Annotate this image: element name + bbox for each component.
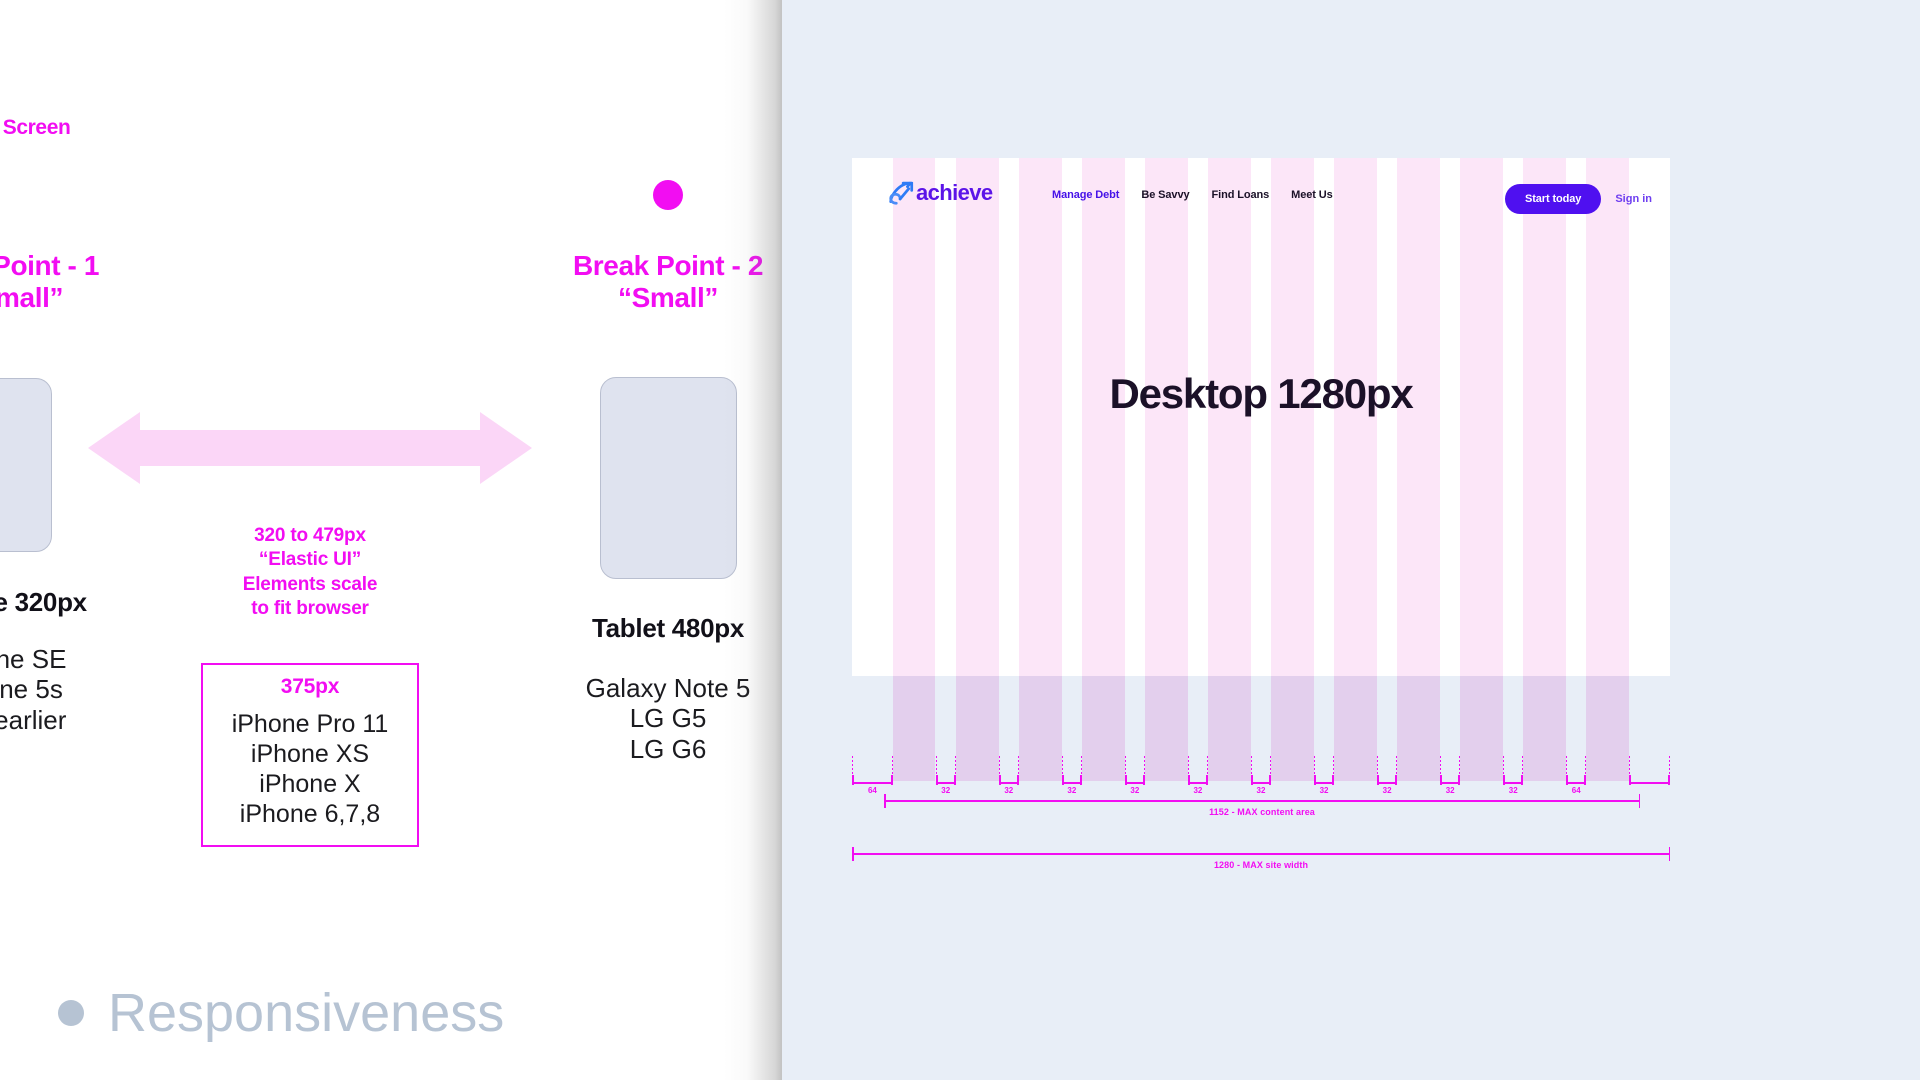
tick-cap — [1188, 775, 1190, 785]
device-label-mobile-320: Mobile 320px — [0, 587, 122, 618]
tick-cap — [852, 775, 854, 785]
tick-bar — [1188, 782, 1208, 784]
tick-cap — [1062, 775, 1064, 785]
tick-cap — [1251, 775, 1253, 785]
sign-in-link[interactable]: Sign in — [1615, 193, 1652, 205]
spec-box-375-devices: iPhone Pro 11 iPhone XS iPhone X iPhone … — [217, 709, 403, 829]
gutter-tick: 32 — [1062, 756, 1082, 802]
tick-bar — [999, 782, 1019, 784]
tick-cap — [1584, 775, 1586, 785]
site-logo[interactable]: achieve — [888, 180, 993, 206]
gutter-tick-label: 32 — [1188, 786, 1208, 795]
site-width-dimension: 1280 - MAX site width — [852, 853, 1670, 883]
tick-cap — [1332, 775, 1334, 785]
gutter-tick: 32 — [1314, 756, 1334, 802]
nav-item-find-loans[interactable]: Find Loans — [1212, 189, 1270, 201]
gutter-tick: 32 — [1188, 756, 1208, 802]
tick-cap — [999, 775, 1001, 785]
nav-item-be-savvy[interactable]: Be Savvy — [1141, 189, 1189, 201]
gutter-tick: 32 — [999, 756, 1019, 802]
tick-cap — [936, 775, 938, 785]
slide-canvas: Full Screen Break Point - 1 “XSmall” Mob… — [0, 0, 1920, 1080]
spec-box-375-px: 375px — [217, 675, 403, 699]
mock-site-header: achieve Manage DebtBe SavvyFind LoansMee… — [852, 158, 1670, 228]
range-1-note: 320 to 479px “Elastic UI” Elements scale… — [180, 524, 440, 621]
gutter-tick: 32 — [1377, 756, 1397, 802]
tick-cap — [1269, 775, 1271, 785]
gutter-tick: 32 — [1503, 756, 1523, 802]
tick-bar — [1440, 782, 1460, 784]
range-1-double-arrow — [88, 412, 532, 484]
tick-cap — [1566, 775, 1568, 785]
tick-cap — [891, 775, 893, 785]
gutter-tick-label: 32 — [999, 786, 1019, 795]
site-logo-text: achieve — [916, 180, 993, 206]
device-frame-tablet-480 — [600, 377, 737, 579]
gutter-tick-label: 32 — [1125, 786, 1145, 795]
tick-cap — [1395, 775, 1397, 785]
tick-bar — [1629, 782, 1670, 784]
tick-cap — [1017, 775, 1019, 785]
site-width-dimension-label: 1280 - MAX site width — [852, 860, 1670, 870]
gutter-tick: 32 — [1251, 756, 1271, 802]
double-arrow-icon — [88, 412, 532, 484]
device-list-mobile-320: iPhone SE iPhone 5s and earlier — [0, 644, 120, 735]
tick-cap — [1125, 775, 1127, 785]
panel-edge-shadow — [724, 0, 782, 1080]
tick-bar — [936, 782, 956, 784]
tick-bar — [1251, 782, 1271, 784]
tick-cap — [954, 775, 956, 785]
gutter-tick-label: 32 — [1503, 786, 1523, 795]
tick-bar — [1503, 782, 1523, 784]
gutter-tick-label: 64 — [1566, 786, 1586, 795]
desktop-mock-page: achieve Manage DebtBe SavvyFind LoansMee… — [852, 158, 1670, 676]
start-today-button[interactable]: Start today — [1505, 184, 1601, 214]
tick-bar — [852, 782, 893, 784]
nav-item-meet-us[interactable]: Meet Us — [1291, 189, 1332, 201]
achieve-arrow-logo-icon — [888, 181, 914, 205]
slide-footer-label: Responsiveness — [108, 982, 504, 1044]
site-nav: Manage DebtBe SavvyFind LoansMeet Us — [1052, 189, 1333, 201]
nav-item-manage-debt[interactable]: Manage Debt — [1052, 189, 1119, 201]
desktop-grid-panel: achieve Manage DebtBe SavvyFind LoansMee… — [782, 0, 1920, 1080]
tick-cap — [1629, 775, 1631, 785]
tick-cap — [1668, 775, 1670, 785]
tick-cap — [1377, 775, 1379, 785]
breakpoint-1-title: Break Point - 1 “XSmall” — [0, 250, 144, 315]
gutter-tick-label: 64 — [852, 786, 893, 795]
tick-bar — [1377, 782, 1397, 784]
content-area-dimension-label: 1152 - MAX content area — [884, 807, 1640, 817]
tick-cap — [1206, 775, 1208, 785]
spec-box-375: 375px iPhone Pro 11 iPhone XS iPhone X i… — [201, 663, 419, 847]
gutter-tick: 32 — [936, 756, 956, 802]
gutter-tick-label: 32 — [1251, 786, 1271, 795]
gutter-tick-label: 32 — [936, 786, 956, 795]
device-frame-mobile-320 — [0, 378, 52, 552]
tick-cap — [1143, 775, 1145, 785]
breakpoint-2-dot — [653, 180, 683, 210]
gutter-tick-label: 32 — [1440, 786, 1460, 795]
gutter-tick: 64 — [852, 756, 893, 802]
gutter-tick — [1629, 756, 1670, 802]
tick-cap — [1503, 775, 1505, 785]
gutter-tick: 32 — [1440, 756, 1460, 802]
content-area-dimension: 1152 - MAX content area — [884, 800, 1640, 830]
tick-cap — [1314, 775, 1316, 785]
tick-bar — [1062, 782, 1082, 784]
gutter-tick-label: 32 — [1377, 786, 1397, 795]
gutter-tick-label: 32 — [1062, 786, 1082, 795]
full-screen-label: Full Screen — [0, 116, 136, 140]
tick-cap — [1521, 775, 1523, 785]
bullet-dot-icon — [58, 1000, 84, 1026]
desktop-size-title: Desktop 1280px — [852, 370, 1670, 418]
tick-cap — [1440, 775, 1442, 785]
tick-cap — [1080, 775, 1082, 785]
gutter-measurements: 643232323232323232323264 — [852, 756, 1670, 802]
gutter-tick: 32 — [1125, 756, 1145, 802]
slide-footer: Responsiveness — [58, 982, 504, 1044]
tick-bar — [1125, 782, 1145, 784]
gutter-tick: 64 — [1566, 756, 1586, 802]
tick-bar — [1566, 782, 1586, 784]
site-cta-group: Start today Sign in — [1505, 184, 1652, 214]
tick-cap — [1458, 775, 1460, 785]
gutter-tick-label: 32 — [1314, 786, 1334, 795]
tick-bar — [1314, 782, 1334, 784]
